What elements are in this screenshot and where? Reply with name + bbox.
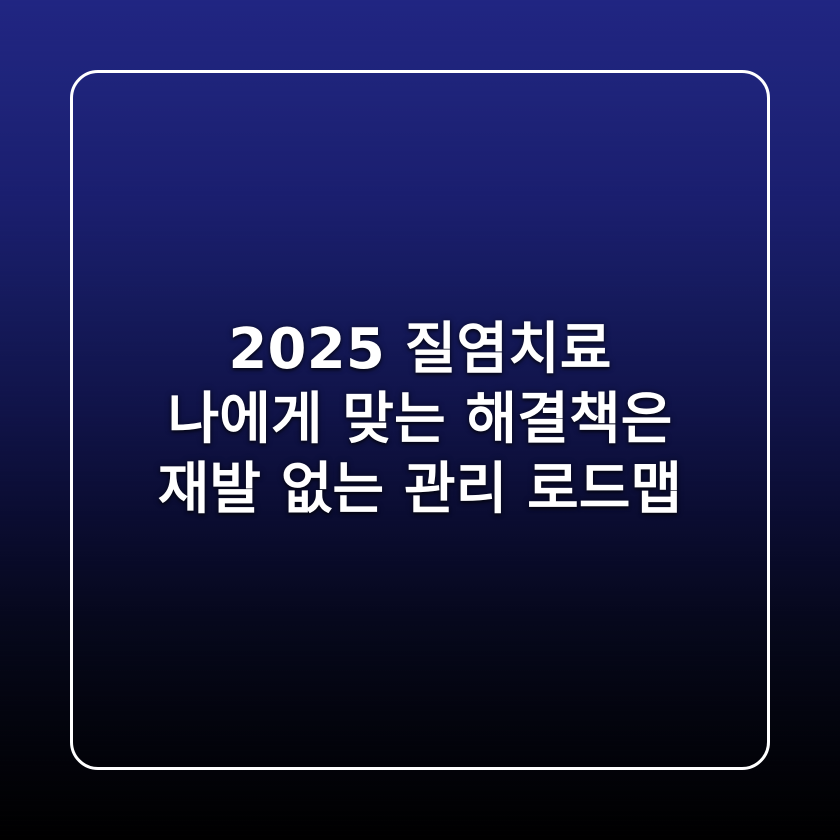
headline-block: 2025 질염치료 나에게 맞는 해결책은 재발 없는 관리 로드맵 bbox=[0, 0, 840, 840]
headline-line-3: 재발 없는 관리 로드맵 bbox=[158, 455, 683, 525]
headline-line-1: 2025 질염치료 bbox=[228, 315, 611, 385]
headline-line-2: 나에게 맞는 해결책은 bbox=[168, 385, 673, 455]
thumbnail-card: 2025 질염치료 나에게 맞는 해결책은 재발 없는 관리 로드맵 bbox=[0, 0, 840, 840]
